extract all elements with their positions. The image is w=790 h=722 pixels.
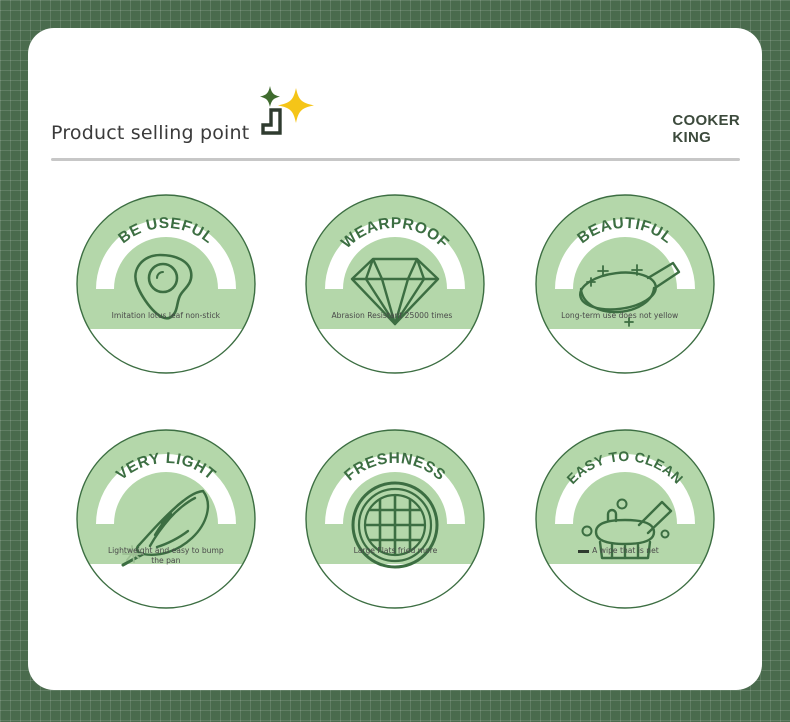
badge-easy-to-clean[interactable]: EASY TO CLEAN A wipe that is net: [534, 428, 716, 610]
header-divider: [51, 158, 740, 161]
brand-logo: COOKER KING: [672, 112, 740, 146]
badge-wearproof[interactable]: WEARPROOF Abrasion Resistant 25000 times: [304, 193, 486, 375]
badge-caption-band: [75, 329, 257, 375]
page-title: Product selling point: [51, 122, 249, 144]
card-header: Product selling point COOKER KING: [28, 28, 762, 168]
badge-freshness[interactable]: FRESHNESS Large Flats fried more: [304, 428, 486, 610]
badge-very-light[interactable]: VERY LIGHT Lightweight and easy to bump …: [75, 428, 257, 610]
badge-grid: BE USEFUL Imitation lotus leaf non-stick: [51, 193, 740, 663]
product-selling-point-card: Product selling point COOKER KING: [28, 28, 762, 690]
angular-hook-bracket-icon: [263, 110, 280, 133]
brand-line-1: COOKER: [672, 112, 740, 129]
sparkle-decoration: [250, 76, 320, 146]
badge-caption-band: [75, 564, 257, 610]
brand-line-2: KING: [672, 129, 740, 146]
badge-caption-band: [304, 564, 486, 610]
four-point-star-dark-green-icon: [260, 86, 280, 107]
badge-caption-band: [534, 329, 716, 375]
grill-grid-circle-icon: [353, 483, 437, 567]
badge-beautiful[interactable]: BEAUTIFUL Long-term use does not yellow: [534, 193, 716, 375]
four-point-star-yellow-icon: [278, 88, 314, 123]
badge-caption-band: [534, 564, 716, 610]
badge-be-useful[interactable]: BE USEFUL Imitation lotus leaf non-stick: [75, 193, 257, 375]
badge-caption-band: [304, 329, 486, 375]
